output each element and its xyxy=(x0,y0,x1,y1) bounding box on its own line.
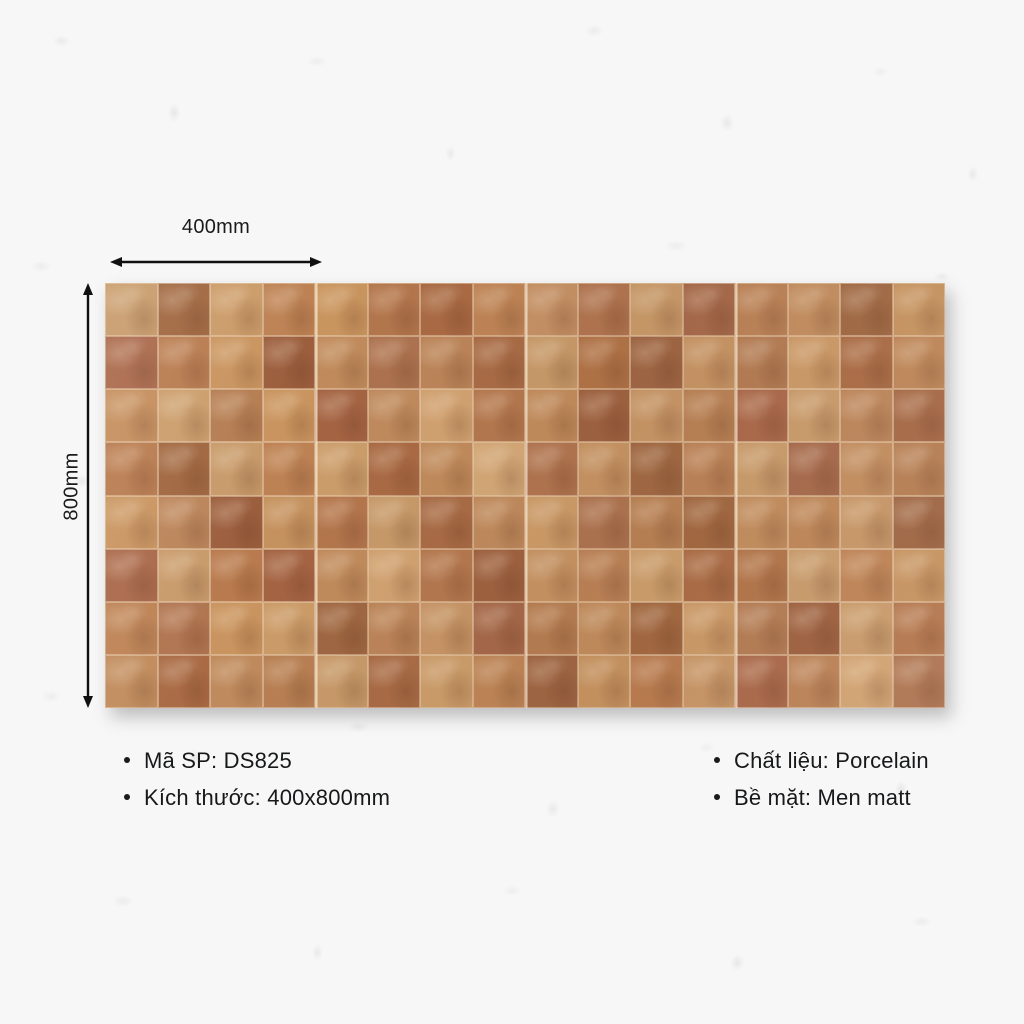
tile-cell xyxy=(420,442,473,495)
bullet-icon xyxy=(714,757,720,763)
tile-cell xyxy=(840,336,893,389)
tile-cell xyxy=(578,549,631,602)
tile-cell xyxy=(683,496,736,549)
list-item: Chất liệu: Porcelain xyxy=(714,748,929,785)
tile-cell xyxy=(315,442,368,495)
tile-cell xyxy=(473,336,526,389)
tile-cell xyxy=(263,442,316,495)
tile-cell xyxy=(525,442,578,495)
tile-cell xyxy=(158,549,211,602)
tile-cell xyxy=(368,496,421,549)
tile-cell xyxy=(158,442,211,495)
tile-cell xyxy=(315,549,368,602)
tile-product-image xyxy=(105,283,945,708)
tile-cell xyxy=(473,549,526,602)
tile-cell xyxy=(105,602,158,655)
tile-cell xyxy=(893,389,946,442)
tile-cell xyxy=(210,389,263,442)
spec-column-left: Mã SP: DS825 Kích thước: 400x800mm xyxy=(124,748,390,822)
tile-cell xyxy=(578,283,631,336)
tile-cell xyxy=(788,549,841,602)
tile-cell xyxy=(473,602,526,655)
product-spec-list: Mã SP: DS825 Kích thước: 400x800mm Chất … xyxy=(0,748,1024,838)
tile-cell xyxy=(630,389,683,442)
tile-cell xyxy=(210,283,263,336)
tile-cell xyxy=(683,549,736,602)
tile-cell xyxy=(525,283,578,336)
tile-cell xyxy=(420,655,473,708)
tile-cell xyxy=(630,336,683,389)
tile-cell xyxy=(683,389,736,442)
tile-cell xyxy=(473,283,526,336)
height-dimension-annotation: 800mm xyxy=(52,283,108,708)
tile-cell xyxy=(263,389,316,442)
tile-cell xyxy=(105,389,158,442)
tile-cell xyxy=(840,442,893,495)
tile-cell xyxy=(158,283,211,336)
tile-cell xyxy=(735,389,788,442)
tile-cell xyxy=(840,602,893,655)
tile-cell xyxy=(368,336,421,389)
tile-cell xyxy=(105,549,158,602)
tile-cell xyxy=(158,496,211,549)
tile-cell xyxy=(735,602,788,655)
tile-cell xyxy=(210,549,263,602)
tile-cell xyxy=(788,655,841,708)
tile-cell xyxy=(315,496,368,549)
tile-cell xyxy=(630,655,683,708)
tile-cell xyxy=(578,389,631,442)
double-headed-vertical-arrow-icon xyxy=(80,283,96,708)
tile-cell xyxy=(525,336,578,389)
bullet-icon xyxy=(124,757,130,763)
tile-cell xyxy=(683,602,736,655)
tile-cell xyxy=(840,655,893,708)
double-headed-horizontal-arrow-icon xyxy=(110,254,322,270)
tile-cell xyxy=(630,283,683,336)
tile-cell xyxy=(263,602,316,655)
tile-cell xyxy=(578,496,631,549)
tile-cell xyxy=(368,655,421,708)
tile-cell xyxy=(630,549,683,602)
spec-column-right: Chất liệu: Porcelain Bề mặt: Men matt xyxy=(714,748,929,822)
tile-cell xyxy=(210,602,263,655)
tile-cell xyxy=(315,602,368,655)
tile-cell xyxy=(158,336,211,389)
tile-cell xyxy=(420,283,473,336)
tile-cell xyxy=(420,496,473,549)
tile-cell xyxy=(263,655,316,708)
tile-cell xyxy=(735,283,788,336)
tile-cell xyxy=(788,602,841,655)
tile-cell xyxy=(630,442,683,495)
tile-cell xyxy=(263,496,316,549)
list-item: Bề mặt: Men matt xyxy=(714,785,929,822)
tile-cell xyxy=(788,283,841,336)
tile-cell xyxy=(473,655,526,708)
tile-cell xyxy=(105,283,158,336)
tile-cell xyxy=(578,655,631,708)
spec-product-code: Mã SP: DS825 xyxy=(144,748,292,774)
tile-cell xyxy=(368,389,421,442)
tile-cell xyxy=(315,336,368,389)
tile-cell xyxy=(368,283,421,336)
tile-cell xyxy=(735,442,788,495)
tile-cell xyxy=(315,389,368,442)
tile-cell xyxy=(893,442,946,495)
tile-cell xyxy=(683,283,736,336)
tile-cell xyxy=(578,442,631,495)
tile-cell xyxy=(525,549,578,602)
tile-cell xyxy=(368,442,421,495)
tile-cell xyxy=(473,442,526,495)
tile-cell xyxy=(893,336,946,389)
tile-cell xyxy=(368,602,421,655)
width-dimension-annotation: 400mm xyxy=(110,216,322,272)
tile-cell xyxy=(525,602,578,655)
spec-material: Chất liệu: Porcelain xyxy=(734,748,929,774)
tile-cell xyxy=(210,655,263,708)
bullet-icon xyxy=(714,794,720,800)
tile-cell xyxy=(210,442,263,495)
tile-cell xyxy=(840,549,893,602)
tile-cell xyxy=(788,336,841,389)
tile-cell xyxy=(630,602,683,655)
tile-cell xyxy=(263,283,316,336)
tile-cell xyxy=(263,336,316,389)
tile-cell xyxy=(105,336,158,389)
tile-cell xyxy=(683,442,736,495)
tile-cell xyxy=(788,389,841,442)
list-item: Mã SP: DS825 xyxy=(124,748,390,785)
tile-cell xyxy=(683,655,736,708)
tile-cell xyxy=(525,655,578,708)
tile-cell xyxy=(735,655,788,708)
width-dimension-label: 400mm xyxy=(110,216,322,239)
tile-cell xyxy=(840,389,893,442)
tile-cell xyxy=(893,496,946,549)
tile-cell xyxy=(158,602,211,655)
tile-cell xyxy=(210,496,263,549)
tile-cell xyxy=(420,336,473,389)
tile-cell xyxy=(893,602,946,655)
tile-cell xyxy=(578,602,631,655)
tile-cell xyxy=(525,389,578,442)
tile-cell xyxy=(263,549,316,602)
tile-cell xyxy=(840,283,893,336)
tile-panel-seam xyxy=(525,283,528,708)
tile-cell xyxy=(578,336,631,389)
list-item: Kích thước: 400x800mm xyxy=(124,785,390,822)
tile-cell xyxy=(683,336,736,389)
tile-cell xyxy=(368,549,421,602)
tile-cell xyxy=(315,655,368,708)
tile-cell xyxy=(735,549,788,602)
tile-cell xyxy=(473,496,526,549)
tile-cell xyxy=(893,655,946,708)
tile-cell xyxy=(420,549,473,602)
tile-cell xyxy=(158,389,211,442)
tile-panel-seam xyxy=(315,283,318,708)
tile-cell xyxy=(735,336,788,389)
spec-size: Kích thước: 400x800mm xyxy=(144,785,390,811)
tile-cell xyxy=(473,389,526,442)
tile-cell xyxy=(840,496,893,549)
tile-cell xyxy=(420,389,473,442)
tile-cell xyxy=(105,496,158,549)
tile-cell xyxy=(210,336,263,389)
tile-cell xyxy=(315,283,368,336)
tile-cell xyxy=(630,496,683,549)
bullet-icon xyxy=(124,794,130,800)
tile-cell xyxy=(893,283,946,336)
tile-cell xyxy=(893,549,946,602)
spec-surface: Bề mặt: Men matt xyxy=(734,785,911,811)
tile-cell xyxy=(788,442,841,495)
tile-cell xyxy=(788,496,841,549)
tile-panel-seam xyxy=(735,283,738,708)
tile-cell xyxy=(525,496,578,549)
tile-cell xyxy=(158,655,211,708)
tile-cell xyxy=(105,442,158,495)
tile-cell xyxy=(735,496,788,549)
tile-cell xyxy=(420,602,473,655)
tile-cell xyxy=(105,655,158,708)
